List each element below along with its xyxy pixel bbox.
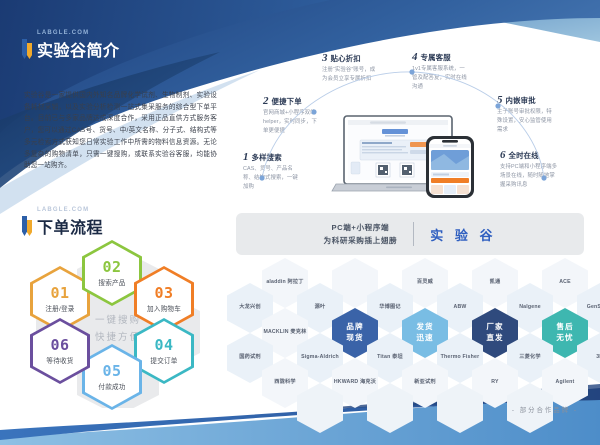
step-number: 05 (102, 364, 121, 379)
brand-label: 西陇科学 (274, 380, 296, 386)
intro-title: 实验谷简介 (37, 37, 120, 61)
claim-label: 发货 迅速 (416, 322, 433, 343)
brand-label: ABW (454, 305, 467, 311)
step-label: 付款成功 (98, 381, 125, 391)
step-number: 06 (50, 338, 69, 353)
brand-label: 华博图记 (379, 305, 401, 311)
banner-tagline: PC端+小程序端 为科研采购插上翅膀 (324, 221, 398, 248)
brand-label: Titan 泰坦 (377, 355, 403, 361)
brand-label: 源叶 (315, 305, 326, 311)
step-number: 03 (154, 286, 173, 301)
step-label: 搜索产品 (98, 277, 125, 287)
brand-label: MACKLIN 麦克林 (263, 330, 306, 336)
brand-label: 凯通 (490, 280, 501, 286)
flag-icon (22, 216, 33, 236)
flag-icon (22, 39, 33, 59)
order-flow-diagram: 一键搜购 快捷方便 01 注册/登录 02 搜索产品 03 (18, 240, 218, 415)
brand-label: 3M (596, 355, 600, 361)
banner-line-2: 为科研采购插上翅膀 (324, 234, 398, 247)
poster-page: LABGLE.COM 实验谷简介 实验谷是一家提供国内外知名品牌化学试剂、生物制… (0, 0, 600, 445)
brand-label: Agilent (556, 380, 575, 386)
step-label: 提交订单 (150, 355, 177, 365)
partner-logo-grid: aladdin 阿拉丁 百灵威 凯通 ACE 大龙兴创 源叶 华博图记 ABW … (236, 258, 596, 408)
claim-label: 售后 无忧 (556, 322, 573, 343)
partners-note: - 部分合作品牌 - (512, 405, 578, 414)
flow-step-02[interactable]: 02 搜索产品 (82, 240, 142, 306)
flow-kicker: LABGLE.COM (37, 207, 103, 213)
device-mockup (330, 112, 490, 200)
claim-label: 品牌 现货 (346, 322, 363, 343)
brand-label: ACE (559, 280, 571, 286)
banner-divider (413, 222, 414, 246)
flow-step-04[interactable]: 04 提交订单 (134, 318, 194, 384)
step-label: 加入购物车 (147, 303, 181, 313)
brand-label: 国药试剂 (239, 355, 261, 361)
step-number: 01 (50, 286, 69, 301)
brand-label: RY (491, 380, 498, 386)
flow-title: 下单流程 (37, 214, 103, 238)
brand-label: GenScript (587, 305, 600, 311)
intro-paragraph: 实验谷是一家提供国内外知名品牌化学试剂、生物制剂、实验设备耗材采销，以及实验分析… (24, 90, 217, 172)
platform-banner: PC端+小程序端 为科研采购插上翅膀 实 验 谷 (236, 213, 584, 255)
flow-step-05[interactable]: 05 付款成功 (82, 344, 142, 410)
brand-label: 百灵威 (417, 280, 433, 286)
claim-label: 厂家 直发 (486, 322, 503, 343)
brand-label: Thermo Fisher (441, 355, 480, 361)
brand-label: aladdin 阿拉丁 (266, 280, 303, 286)
step-label: 注册/登录 (45, 303, 74, 313)
step-number: 02 (102, 260, 121, 275)
flow-step-06[interactable]: 06 等待收货 (30, 318, 90, 384)
banner-brand-name: 实 验 谷 (430, 225, 496, 244)
brand-label: Sigma-Aldrich (301, 355, 339, 361)
brand-label: 三菱化学 (519, 355, 541, 361)
section-header-intro: LABGLE.COM 实验谷简介 (22, 30, 120, 61)
brand-label: HKWARD 海克沃 (334, 380, 376, 386)
banner-line-1: PC端+小程序端 (324, 221, 398, 234)
step-number: 04 (154, 338, 173, 353)
brand-label: 新亚试剂 (414, 380, 436, 386)
brand-label: 大龙兴创 (239, 305, 261, 311)
brand-label: Nalgene (519, 305, 541, 311)
section-header-flow: LABGLE.COM 下单流程 (22, 207, 103, 238)
intro-kicker: LABGLE.COM (37, 30, 120, 36)
step-label: 等待收货 (46, 355, 73, 365)
